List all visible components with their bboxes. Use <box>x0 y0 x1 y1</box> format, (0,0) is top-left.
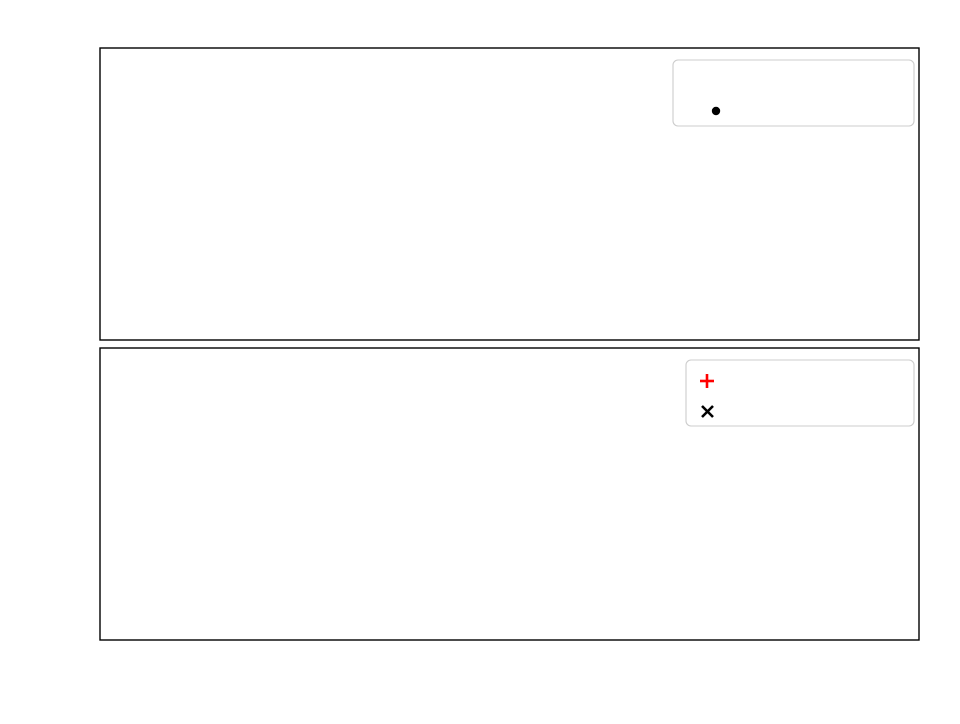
bottom-legend[interactable] <box>686 360 914 426</box>
legend-measurements-swatch <box>712 107 720 115</box>
bottom-legend-box <box>686 360 914 426</box>
figure-canvas <box>0 0 960 720</box>
top-legend-box <box>673 60 914 126</box>
top-legend[interactable] <box>673 60 914 126</box>
matplotlib-figure <box>0 0 960 720</box>
